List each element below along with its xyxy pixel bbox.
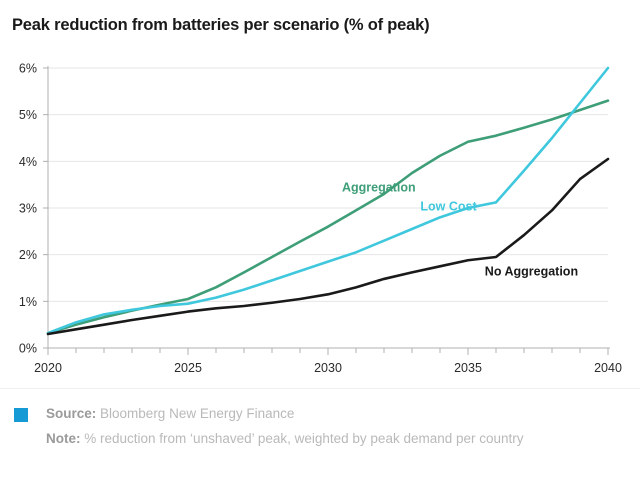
y-axis-tick-label: 4% [19,155,37,169]
footer-source-label: Source: [46,406,96,421]
data-series-group [48,68,608,334]
x-axis-labels-group: 20202025203020352040 [34,361,622,375]
chart-plot-area: 0%1%2%3%4%5%6% 20202025203020352040 Aggr… [0,0,640,380]
series-label-aggregation: Aggregation [342,181,416,195]
y-axis-tick-label: 5% [19,108,37,122]
y-axis-tick-label: 2% [19,248,37,262]
line-chart-svg: 0%1%2%3%4%5%6% 20202025203020352040 Aggr… [0,0,640,380]
footer-note-row: Note: % reduction from ‘unshaved’ peak, … [46,426,621,451]
legend-swatch-icon [14,408,28,422]
x-axis-tick-label: 2040 [594,361,622,375]
y-axis-tick-label: 1% [19,295,37,309]
y-axis-tick-label: 0% [19,342,37,356]
gridlines-group [48,68,608,348]
y-axis-labels-group: 0%1%2%3%4%5%6% [19,62,37,356]
chart-footer: Source: Bloomberg New Energy Finance Not… [0,388,640,492]
footer-source-value: Bloomberg New Energy Finance [100,406,294,421]
y-axis-tick-label: 6% [19,62,37,76]
footer-note-value: % reduction from ‘unshaved’ peak, weight… [84,431,523,446]
series-line-no-aggregation [48,159,608,334]
series-annotations-group: AggregationLow CostNo Aggregation [342,181,578,279]
footer-note-label: Note: [46,431,81,446]
y-axis-tick-label: 3% [19,202,37,216]
footer-source-row: Source: Bloomberg New Energy Finance [46,401,621,426]
chart-screenshot: Peak reduction from batteries per scenar… [0,0,640,492]
x-axis-tick-label: 2030 [314,361,342,375]
series-label-low-cost: Low Cost [420,199,477,213]
x-axis-tick-label: 2035 [454,361,482,375]
footer-text-block: Source: Bloomberg New Energy Finance Not… [46,401,621,451]
series-label-no-aggregation: No Aggregation [485,265,578,279]
x-axis-tick-label: 2020 [34,361,62,375]
series-line-aggregation [48,101,608,333]
x-axis-tick-label: 2025 [174,361,202,375]
